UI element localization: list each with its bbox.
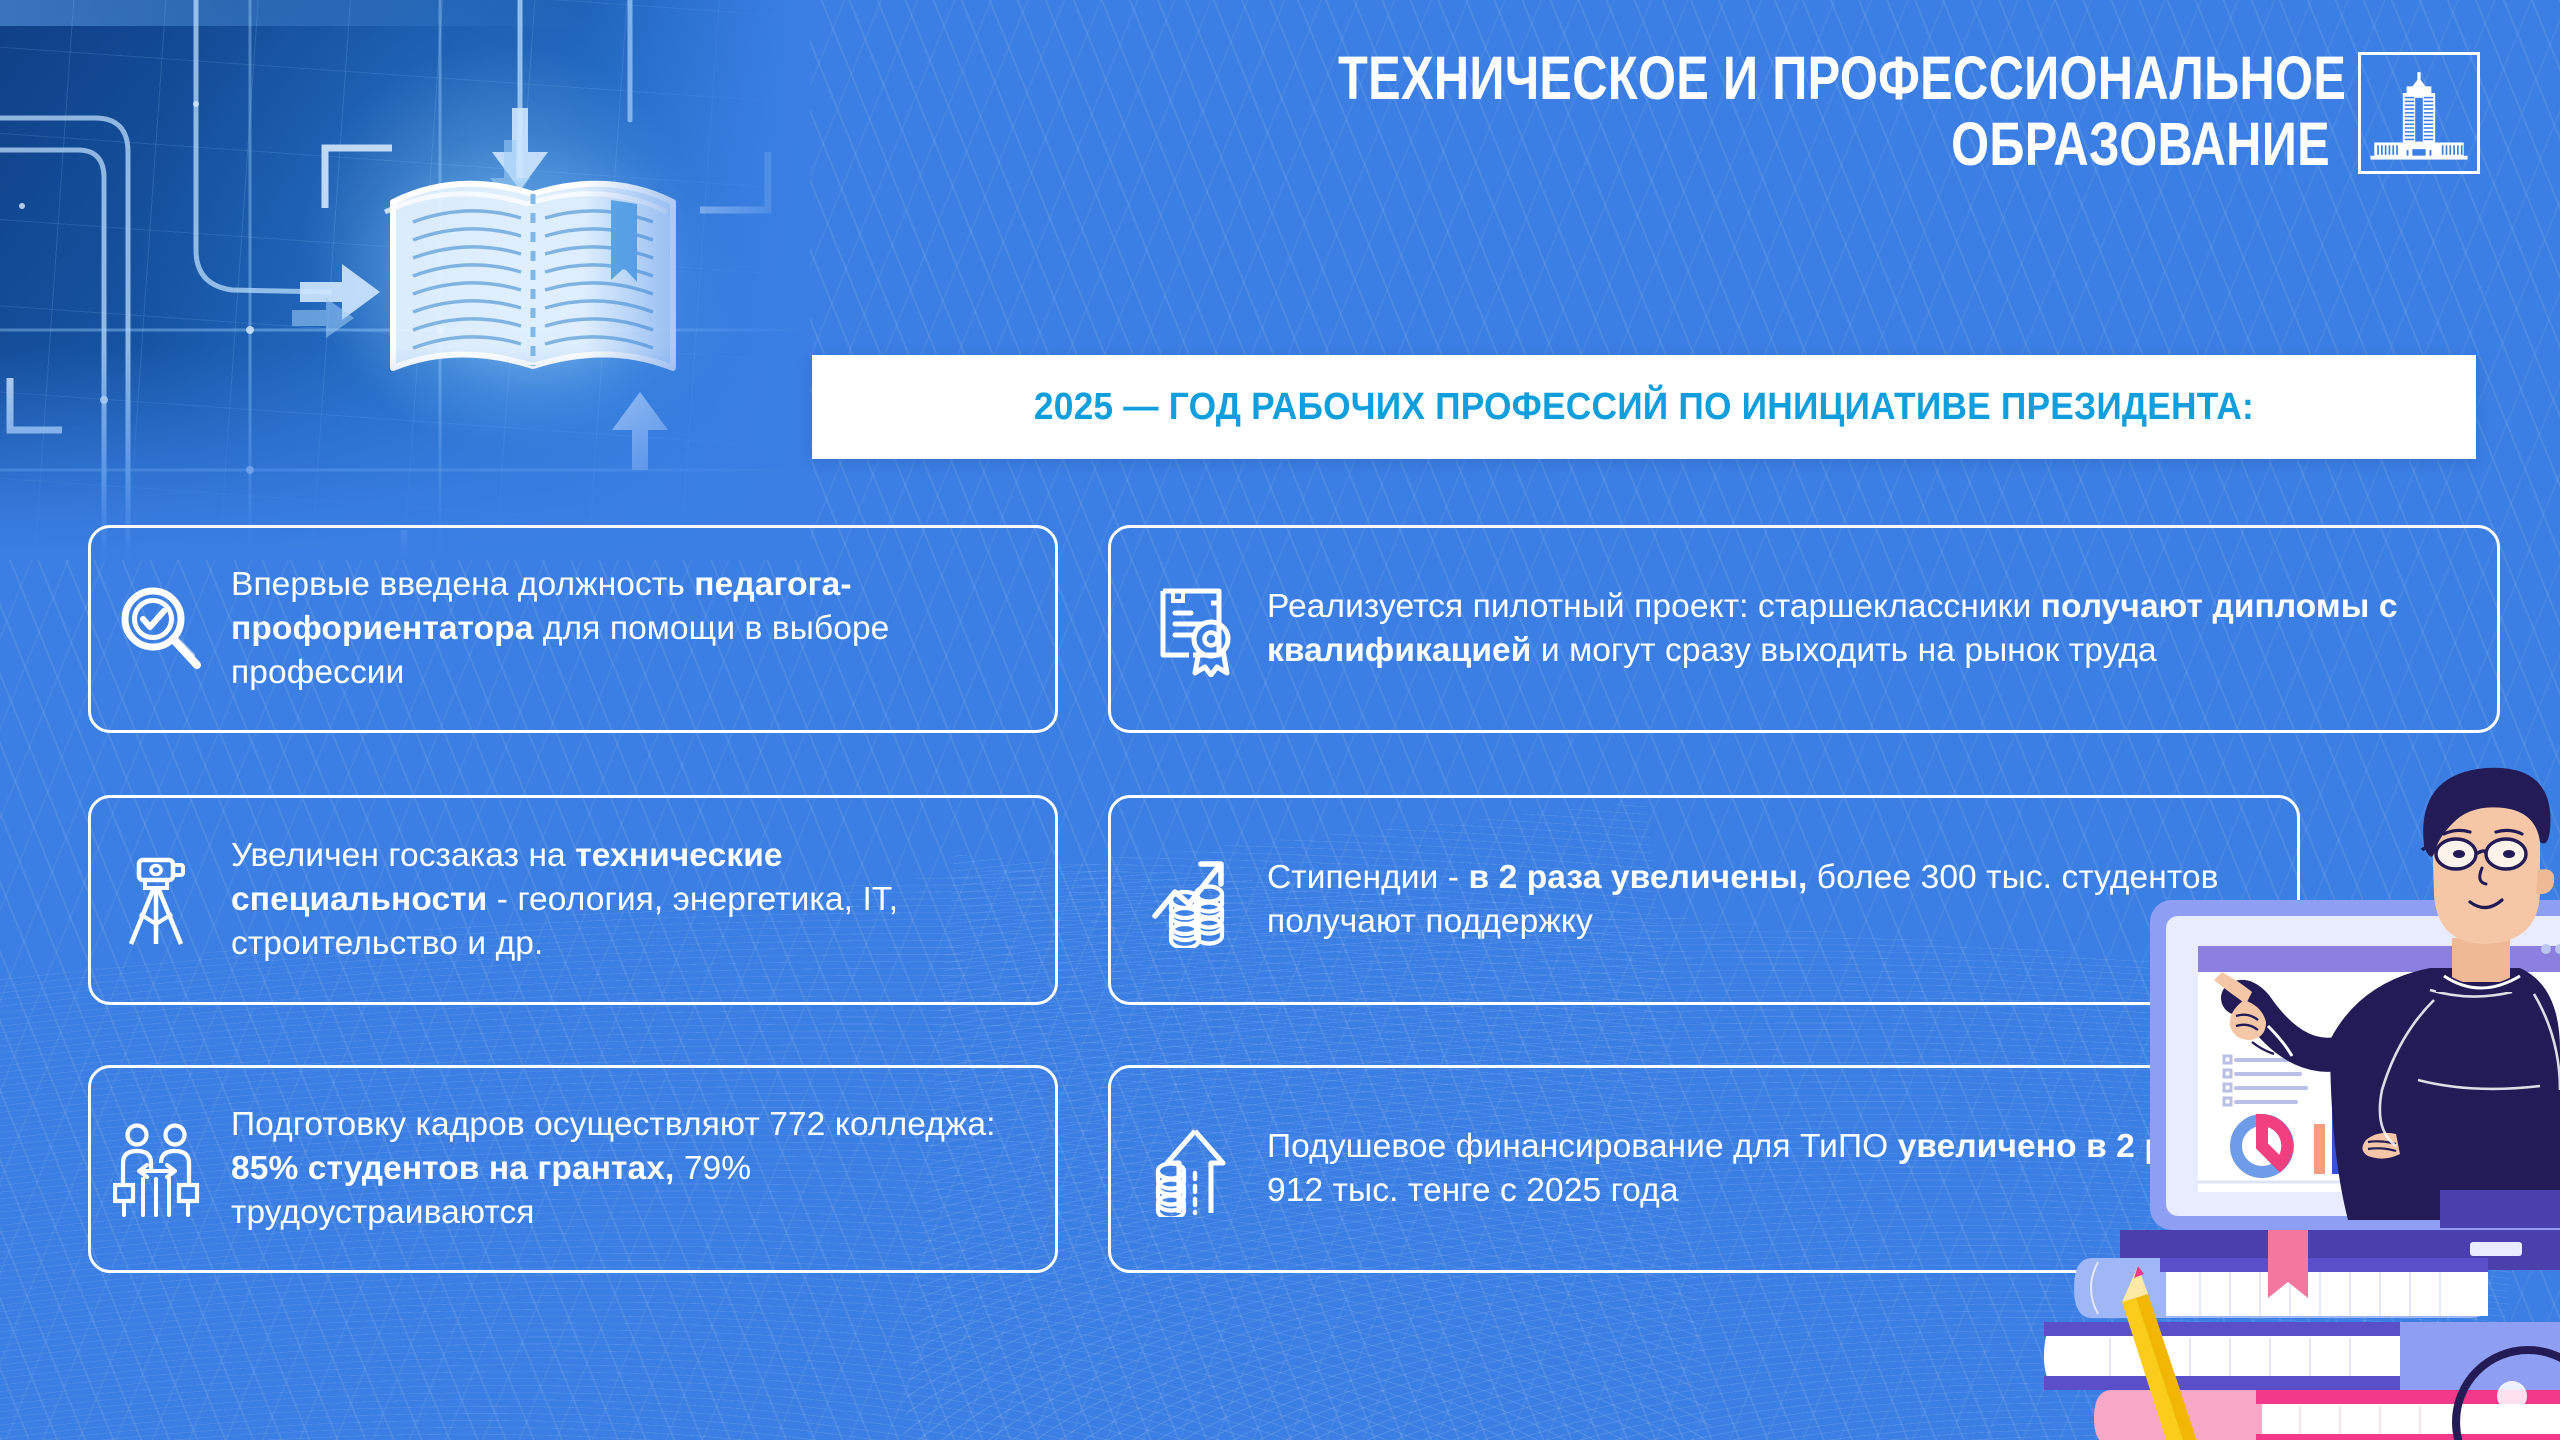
magnifier-check-icon	[113, 581, 209, 677]
subtitle-banner-text: 2025 — ГОД РАБОЧИХ ПРОФЕССИЙ ПО ИНИЦИАТИ…	[1034, 386, 2254, 429]
card-text-plain: Подготовку кадров осуществляют 772 колле…	[231, 1106, 996, 1143]
card-technical-specialties-text: Увеличен госзаказ на технические специал…	[231, 834, 1029, 967]
pencil	[2122, 1266, 2222, 1440]
circuit-lines	[0, 0, 810, 560]
page-title: ТЕХНИЧЕСКОЕ И ПРОФЕССИОНАЛЬНОЕ ОБРАЗОВАН…	[1338, 46, 2330, 178]
subtitle-banner: 2025 — ГОД РАБОЧИХ ПРОФЕССИЙ ПО ИНИЦИАТИ…	[812, 355, 2476, 459]
growth-arrow-coins-icon	[1149, 852, 1245, 948]
card-pilot-diplomas-text: Реализуется пилотный проект: старшекласс…	[1267, 585, 2471, 673]
surveying-tripod-icon	[113, 852, 209, 948]
card-per-capita-funding-text: Подушевое финансирование для ТиПО увелич…	[1267, 1125, 2271, 1213]
tech-grid-overlay	[0, 0, 810, 560]
card-text-emphasis: в 2 раза увеличены,	[1468, 859, 1807, 896]
card-text-emphasis: увеличено в 2 раза	[1898, 1128, 2219, 1165]
akorda-building-emblem-icon	[2358, 52, 2480, 174]
card-text-plain: и могут сразу выходить на рынок труда	[1531, 632, 2156, 669]
card-per-capita-funding[interactable]: Подушевое финансирование для ТиПО увелич…	[1108, 1065, 2300, 1273]
card-profession-counselor[interactable]: Впервые введена должность педагога-профо…	[88, 525, 1058, 733]
card-colleges-text: Подготовку кадров осуществляют 772 колле…	[231, 1103, 1029, 1236]
card-text-plain: Подушевое финансирование для ТиПО	[1267, 1128, 1898, 1165]
card-text-plain: Увеличен госзаказ на	[231, 837, 575, 874]
tech-top-glow	[0, 0, 810, 26]
card-scholarships-text: Стипендии - в 2 раза увеличены, более 30…	[1267, 856, 2271, 944]
card-technical-specialties[interactable]: Увеличен госзаказ на технические специал…	[88, 795, 1058, 1005]
tech-background-image	[0, 0, 810, 560]
page-title-line1: ТЕХНИЧЕСКОЕ И ПРОФЕССИОНАЛЬНОЕ	[1338, 44, 2346, 112]
card-text-plain: Реализуется пилотный проект: старшекласс…	[1267, 588, 2041, 625]
coins-up-arrow-icon	[1149, 1121, 1245, 1217]
book-glow	[330, 130, 750, 460]
magnifier-decoration	[2456, 1350, 2560, 1440]
two-people-exchange-icon	[113, 1121, 209, 1217]
card-pilot-diplomas[interactable]: Реализуется пилотный проект: старшекласс…	[1108, 525, 2500, 733]
card-scholarships[interactable]: Стипендии - в 2 раза увеличены, более 30…	[1108, 795, 2300, 1005]
card-text-plain: Стипендии -	[1267, 859, 1468, 896]
header: ТЕХНИЧЕСКОЕ И ПРОФЕССИОНАЛЬНОЕ ОБРАЗОВАН…	[1090, 46, 2330, 178]
card-text-emphasis: 85% студентов на грантах,	[231, 1150, 674, 1187]
card-colleges[interactable]: Подготовку кадров осуществляют 772 колле…	[88, 1065, 1058, 1273]
card-profession-counselor-text: Впервые введена должность педагога-профо…	[231, 563, 1029, 696]
card-text-plain: Впервые введена должность	[231, 566, 694, 603]
certificate-ribbon-icon	[1149, 581, 1245, 677]
page-title-line2: ОБРАЗОВАНИЕ	[1338, 112, 2330, 178]
